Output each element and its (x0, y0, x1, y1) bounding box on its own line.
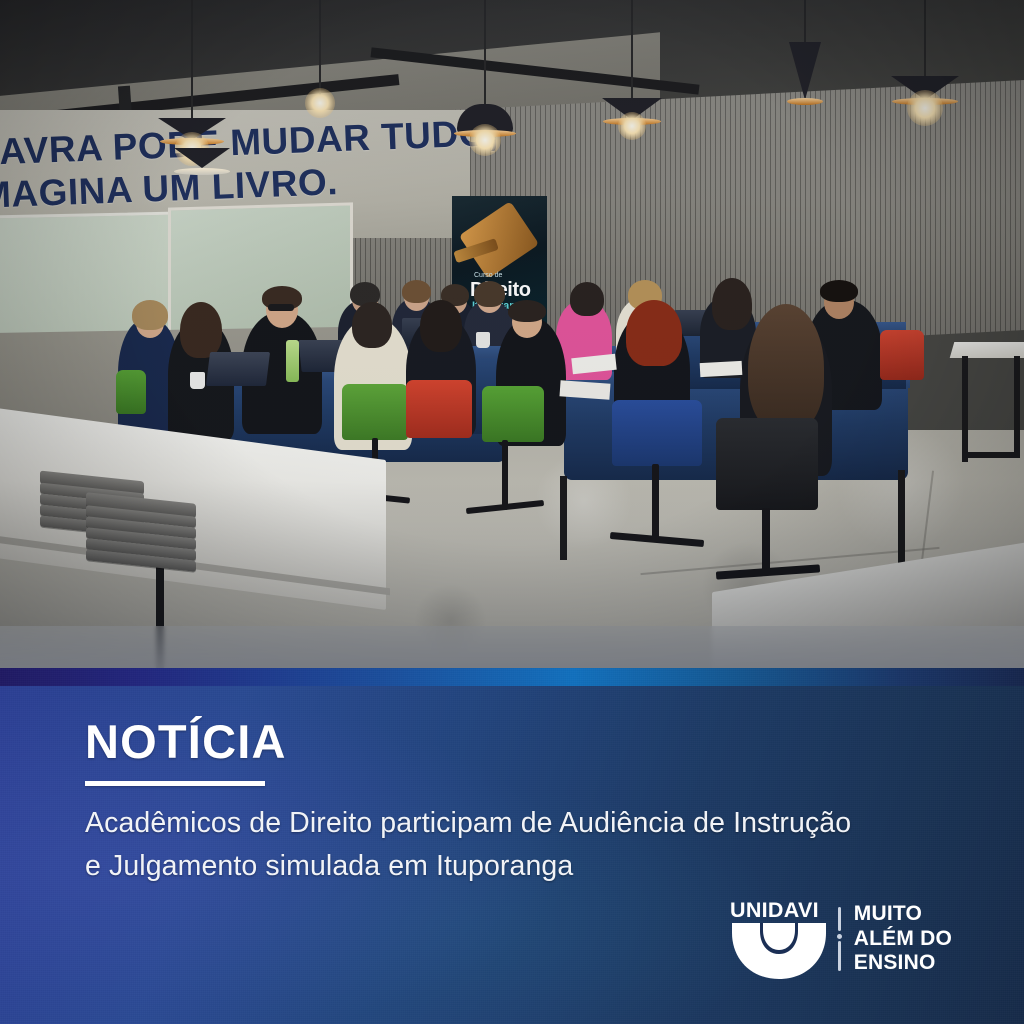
gavel-icon (459, 201, 539, 279)
photo-bottom-fade (0, 626, 1024, 668)
logo-tagline: MUITO ALÉM DO ENSINO (854, 902, 952, 975)
eyeglasses-icon (268, 304, 294, 311)
pendant-lamp-icon (770, 0, 840, 140)
rollup-line-1: Curso de (474, 272, 502, 279)
event-photo: LAVRA PODE MUDAR TUDO, MAGINA UM LIVRO. (0, 0, 1024, 668)
tagline-line-3: ENSINO (854, 951, 952, 975)
plastic-cup (190, 372, 205, 389)
person-hair (180, 302, 222, 358)
person-hair (748, 304, 824, 432)
chair-leg (762, 508, 770, 574)
person-hair (626, 300, 682, 366)
white-table (950, 342, 1024, 358)
logo-brand-block: UNIDAVI (726, 896, 832, 982)
chair-green (116, 370, 146, 414)
chair-green (482, 386, 544, 442)
chair-leg (652, 464, 659, 542)
pendant-lamp-icon (440, 0, 530, 160)
table-leg (1014, 356, 1020, 456)
paper-sheet (560, 380, 611, 399)
person-hair (508, 300, 546, 322)
headline-line-1: Acadêmicos de Direito participam de Audi… (85, 802, 945, 845)
person-hair (132, 300, 168, 330)
person-hair (820, 280, 858, 302)
chair-red (406, 380, 472, 438)
person-hair (402, 280, 431, 303)
news-card: LAVRA PODE MUDAR TUDO, MAGINA UM LIVRO. (0, 0, 1024, 1024)
unidavi-logo: UNIDAVI MUITO ALÉM DO ENSINO (726, 896, 952, 982)
chair-red (880, 330, 924, 380)
table-leg (560, 476, 567, 560)
logo-divider (838, 907, 841, 971)
pendant-lamp-icon (880, 0, 970, 150)
pendant-lamp-icon (152, 0, 232, 160)
chair-green (342, 384, 408, 440)
pendant-lamp-icon (592, 0, 672, 150)
accent-strip (0, 668, 1024, 686)
plastic-cup (476, 332, 490, 348)
title-block: NOTÍCIA (85, 718, 287, 786)
table-leg (962, 452, 1020, 458)
chair-leg (502, 440, 508, 510)
title-underline (85, 781, 265, 786)
laptop (206, 352, 270, 386)
water-bottle (286, 340, 299, 382)
unidavi-u-mark (732, 923, 826, 979)
tagline-line-2: ALÉM DO (854, 927, 952, 951)
paper-sheet (700, 361, 743, 377)
person-hair (352, 302, 392, 348)
headline-line-2: e Julgamento simulada em Ituporanga (85, 845, 945, 888)
chair-black (716, 418, 818, 510)
table-leg (962, 356, 968, 462)
headline: Acadêmicos de Direito participam de Audi… (85, 802, 945, 889)
person-hair (420, 300, 462, 352)
person-hair (570, 282, 604, 316)
pendant-lamp-icon (162, 148, 242, 208)
page-title: NOTÍCIA (85, 718, 287, 765)
brand-wordmark: UNIDAVI (730, 898, 819, 923)
person-hair (474, 281, 505, 307)
pendant-lamp-icon (300, 0, 340, 128)
person-hair (712, 278, 752, 330)
tagline-line-1: MUITO (854, 902, 952, 926)
chair-blue (612, 400, 702, 466)
table-leg (898, 470, 905, 566)
